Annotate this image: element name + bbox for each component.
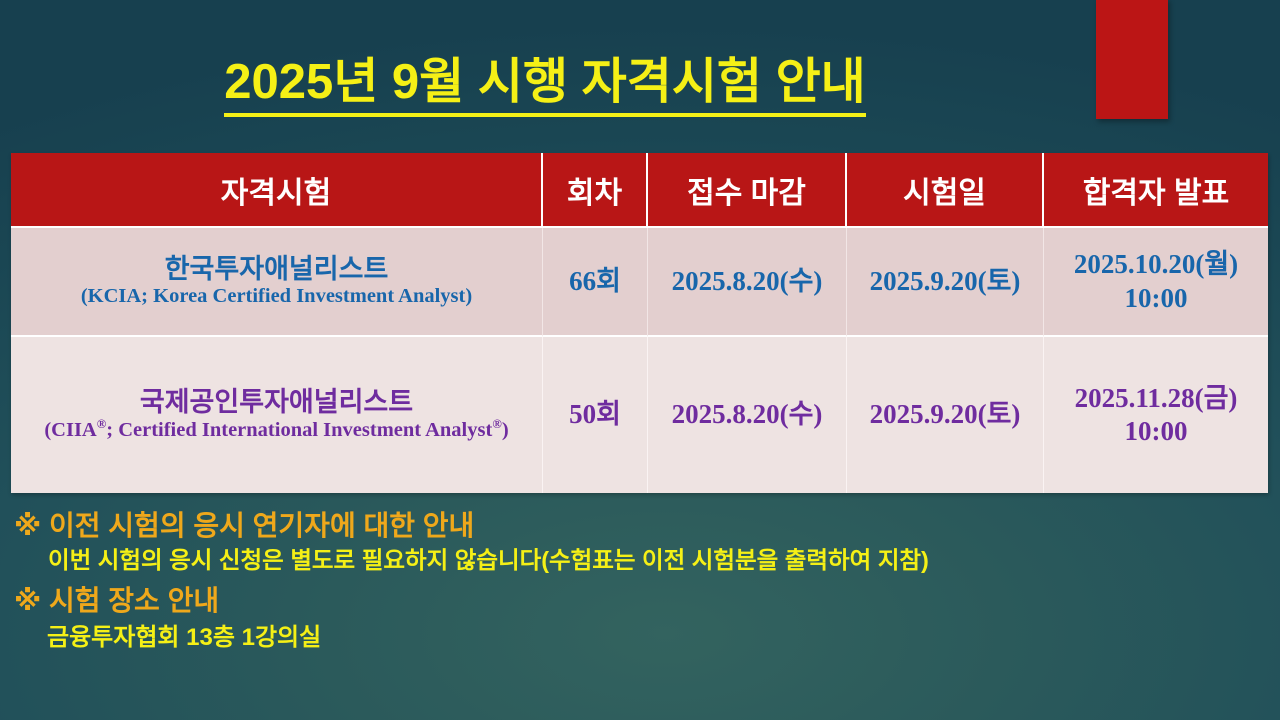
cell-session: 50회	[543, 337, 648, 493]
notes-section: ※ 이전 시험의 응시 연기자에 대한 안내 이번 시험의 응시 신청은 별도로…	[0, 512, 1280, 664]
cell-exam-date: 2025.9.20(토)	[847, 337, 1044, 493]
note-detail-deferred-candidates: 이번 시험의 응시 신청은 별도로 필요하지 않습니다(수험표는 이전 시험분을…	[0, 549, 1280, 573]
exam-name-english: (CIIA®; Certified International Investme…	[15, 417, 538, 443]
accent-bar	[1096, 0, 1168, 119]
column-header-result-date: 합격자 발표	[1044, 153, 1268, 228]
result-date-value: 2025.10.20(월)	[1074, 249, 1238, 279]
exam-name-korean: 한국투자애널리스트	[15, 254, 538, 284]
note-heading-exam-venue: ※ 시험 장소 안내	[0, 587, 1280, 615]
exam-name-english-pre: (CIIA	[44, 419, 96, 441]
result-date-value: 2025.11.28(금)	[1075, 383, 1238, 413]
table-header: 자격시험 회차 접수 마감 시험일 합격자 발표	[11, 153, 1268, 228]
cell-deadline: 2025.8.20(수)	[648, 228, 847, 337]
table-header-row: 자격시험 회차 접수 마감 시험일 합격자 발표	[11, 153, 1268, 228]
cell-exam-date: 2025.9.20(토)	[847, 228, 1044, 337]
cell-session: 66회	[543, 228, 648, 337]
cell-result-date: 2025.11.28(금) 10:00	[1044, 337, 1268, 493]
registered-mark-icon-2: ®	[492, 417, 502, 431]
table-row: 한국투자애널리스트 (KCIA; Korea Certified Investm…	[11, 228, 1268, 337]
exam-name-english-post: )	[502, 419, 509, 441]
cell-exam-name: 한국투자애널리스트 (KCIA; Korea Certified Investm…	[11, 228, 543, 337]
column-header-exam-date: 시험일	[847, 153, 1044, 228]
page-title: 2025년 9월 시행 자격시험 안내	[0, 42, 1090, 113]
column-header-exam-name: 자격시험	[11, 153, 543, 228]
column-header-deadline: 접수 마감	[648, 153, 847, 228]
registered-mark-icon: ®	[97, 417, 107, 431]
exam-name-english: (KCIA; Korea Certified Investment Analys…	[15, 284, 538, 309]
table-row: 국제공인투자애널리스트 (CIIA®; Certified Internatio…	[11, 337, 1268, 493]
cell-deadline: 2025.8.20(수)	[648, 337, 847, 493]
result-time-value: 10:00	[1125, 416, 1188, 446]
note-detail-exam-venue: 금융투자협회 13층 1강의실	[0, 626, 1280, 650]
note-heading-deferred-candidates: ※ 이전 시험의 응시 연기자에 대한 안내	[0, 512, 1280, 540]
cell-result-date: 2025.10.20(월) 10:00	[1044, 228, 1268, 337]
exam-schedule-table: 자격시험 회차 접수 마감 시험일 합격자 발표 한국투자애널리스트 (KCIA…	[11, 153, 1268, 493]
column-header-session: 회차	[543, 153, 648, 228]
exam-name-korean: 국제공인투자애널리스트	[15, 387, 538, 417]
cell-exam-name: 국제공인투자애널리스트 (CIIA®; Certified Internatio…	[11, 337, 543, 493]
result-time-value: 10:00	[1125, 283, 1188, 313]
exam-name-english-mid: ; Certified International Investment Ana…	[106, 419, 492, 441]
table-body: 한국투자애널리스트 (KCIA; Korea Certified Investm…	[11, 228, 1268, 493]
page-title-text: 2025년 9월 시행 자격시험 안내	[224, 55, 866, 117]
